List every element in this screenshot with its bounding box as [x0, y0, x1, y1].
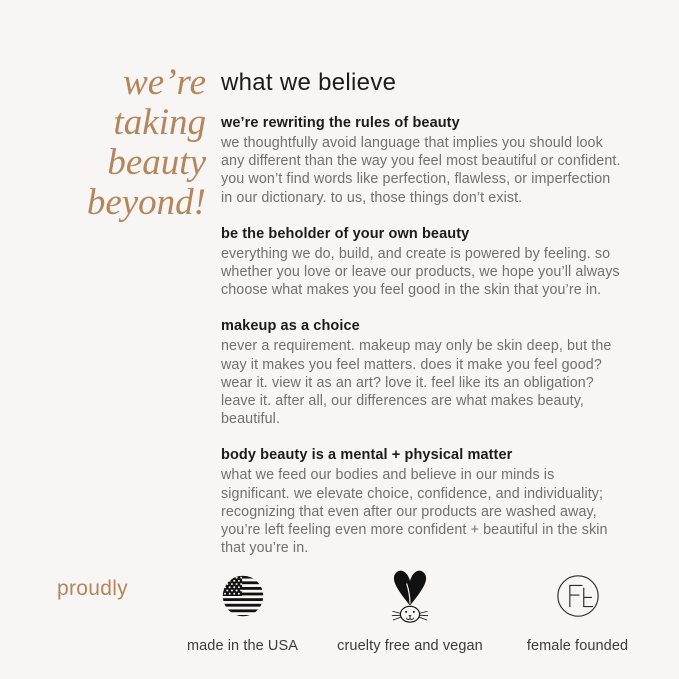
page-title: what we believe	[221, 68, 621, 98]
belief-item: be the beholder of your own beauty every…	[221, 225, 621, 300]
belief-item: we’re rewriting the rules of beauty we t…	[221, 114, 621, 207]
belief-item: makeup as a choice never a requirement. …	[221, 317, 621, 428]
brand-headline: we’re taking beauty beyond!	[28, 63, 206, 223]
belief-item: body beauty is a mental + physical matte…	[221, 446, 621, 557]
brand-values-panel: we’re taking beauty beyond! what we beli…	[0, 0, 679, 679]
badge-caption: made in the USA	[187, 638, 298, 654]
badge-caption: female founded	[527, 638, 628, 654]
belief-heading: we’re rewriting the rules of beauty	[221, 114, 621, 133]
headline-line-4: beyond!	[28, 183, 206, 223]
cruelty-free-bunny-heart-icon	[386, 565, 434, 627]
proudly-label: proudly	[57, 577, 128, 601]
belief-body: never a requirement. makeup may only be …	[221, 337, 621, 428]
badge-made-in-usa: made in the USA	[160, 565, 325, 654]
female-founded-monogram-icon	[554, 565, 602, 627]
certification-badges: made in the USA	[160, 565, 660, 654]
beliefs-column: what we believe we’re rewriting the rule…	[221, 68, 621, 557]
badge-cruelty-free: cruelty free and vegan	[328, 565, 493, 654]
belief-heading: makeup as a choice	[221, 317, 621, 336]
badge-female-founded: female founded	[495, 565, 660, 654]
headline-line-2: taking	[28, 103, 206, 143]
usa-flag-circle-icon	[220, 565, 266, 627]
belief-heading: be the beholder of your own beauty	[221, 225, 621, 244]
headline-line-1: we’re	[28, 63, 206, 103]
badge-caption: cruelty free and vegan	[337, 638, 483, 654]
belief-body: what we feed our bodies and believe in o…	[221, 466, 621, 557]
headline-line-3: beauty	[28, 143, 206, 183]
belief-body: we thoughtfully avoid language that impl…	[221, 134, 621, 207]
belief-heading: body beauty is a mental + physical matte…	[221, 446, 621, 465]
belief-body: everything we do, build, and create is p…	[221, 245, 621, 300]
